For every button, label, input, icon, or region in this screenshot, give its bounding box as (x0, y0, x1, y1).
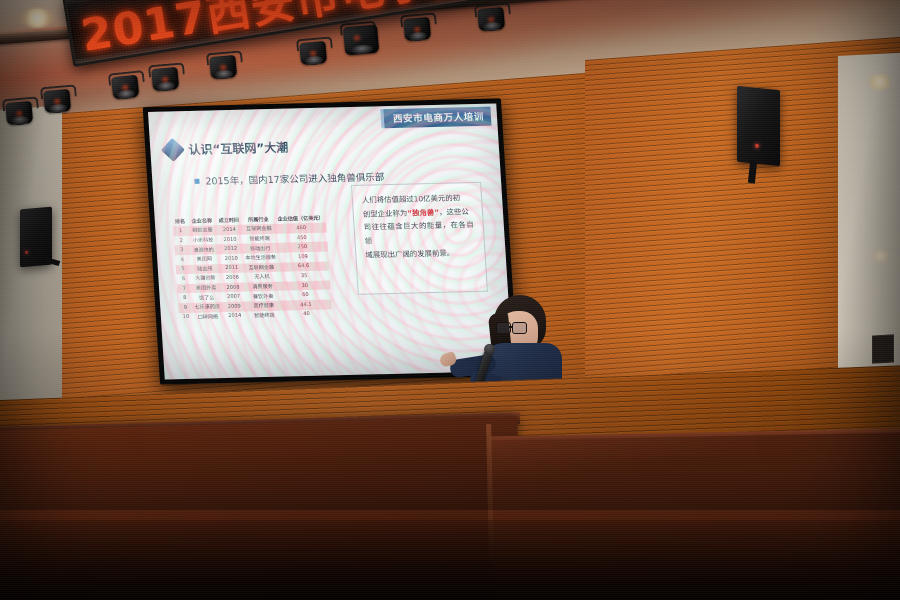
wall-downlight-icon-lower (872, 250, 890, 262)
table-cell: 7 (177, 284, 192, 294)
wall-speaker-left (20, 207, 52, 268)
table-cell: 1 (173, 226, 188, 236)
callout-line-3: 司往往蕴含巨大的能量，在各自领 (363, 218, 475, 248)
square-bullet-icon (194, 178, 199, 183)
table-header-cell-1: 企业名称 (187, 215, 217, 226)
callout-line-2-post: ，这些公 (439, 207, 469, 217)
table-cell: 2008 (221, 282, 246, 292)
callout-highlight: “独角兽” (407, 208, 439, 218)
table-cell: 2011 (219, 263, 244, 273)
table-cell: 4 (175, 255, 190, 265)
presenter-glasses (496, 322, 530, 333)
table-cell: 10 (179, 312, 194, 322)
table-cell: 2009 (222, 301, 247, 311)
unicorn-companies-table: 排名企业名称成立时间所属行业企业估值（亿美元） 1蚂蚁金服2014互联网金融46… (173, 213, 332, 323)
table-cell: 5 (176, 264, 191, 274)
table-header-cell-0: 排名 (173, 216, 188, 227)
slide-title-row: 认识“互联网”大潮 (164, 139, 289, 159)
wall-panel-box (872, 334, 894, 363)
table-cell: 口碑网络 (193, 312, 223, 322)
slide-surface: 西安市电商万人培训 认识“互联网”大潮 2015年，国内17家公司进入独角兽俱乐… (148, 103, 513, 379)
stone-column-left (0, 105, 62, 440)
callout-line-2-pre: 创型企业称为 (363, 208, 408, 218)
callout-line-4: 域展现出广阔的发展前景。 (365, 246, 476, 262)
wall-downlight-icon (868, 74, 892, 90)
table-cell: 9 (178, 303, 193, 313)
table-cell: 3 (174, 245, 189, 255)
table-header-cell-2: 成立时间 (216, 215, 241, 226)
table-cell: 2 (174, 236, 189, 246)
speaker-indicator-icon (755, 144, 759, 148)
ceiling-downlight-icon (20, 8, 54, 28)
conference-hall-photo: 2017西安市电子商务万人培训(电子工程学院) 西安市电商万人培训 认识“互联网… (0, 0, 900, 600)
stage-light-icon (5, 95, 34, 127)
table-cell: 智能终端 (247, 310, 282, 320)
slide-corner-tag: 西安市电商万人培训 (380, 107, 491, 129)
table-cell: 8 (177, 293, 192, 303)
table-cell: 2014 (222, 311, 247, 321)
slide-callout-box: 人们将估值超过10亿美元的初 创型企业称为“独角兽”，这些公 司往往蕴含巨大的能… (351, 182, 488, 295)
slide-title: 认识“互联网”大潮 (188, 139, 289, 158)
table-cell: 40 (281, 309, 331, 320)
stage-light-icon (43, 83, 72, 115)
table-cell: 2012 (218, 244, 243, 254)
wall-speaker-right (737, 86, 780, 167)
projection-screen: 西安市电商万人培训 认识“互联网”大潮 2015年，国内17家公司进入独角兽俱乐… (148, 103, 513, 379)
table-cell: 2007 (221, 292, 246, 302)
table-cell: 2010 (219, 254, 244, 264)
speaker-indicator-icon (25, 251, 28, 254)
foreground-shadow (0, 520, 900, 600)
diamond-bullet-icon (161, 138, 185, 162)
table-cell: 2010 (218, 234, 243, 244)
table-cell: 6 (176, 274, 191, 284)
